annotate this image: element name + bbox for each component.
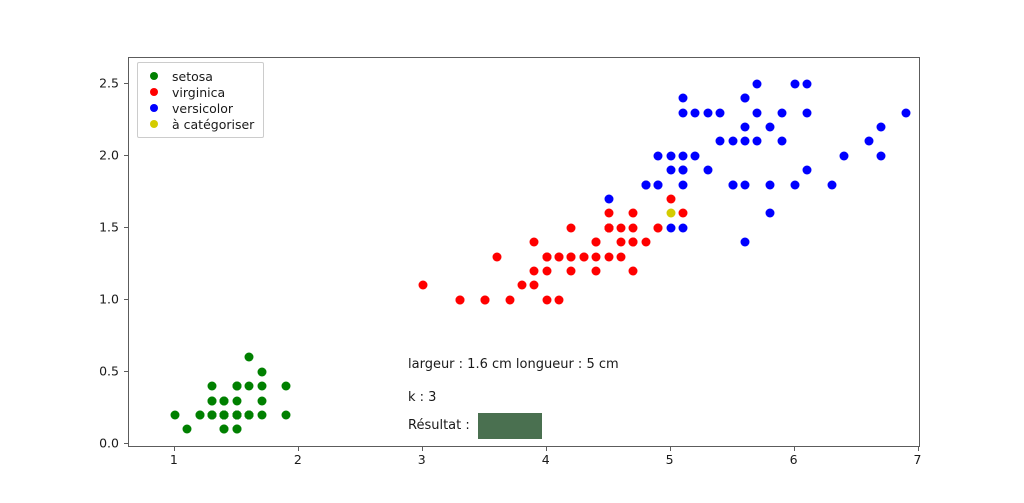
data-point-setosa (183, 425, 192, 434)
data-point-setosa (257, 410, 266, 419)
legend-swatch-icon (150, 120, 158, 128)
data-point-versicolor (741, 238, 750, 247)
data-point-versicolor (741, 94, 750, 103)
data-point-virginica (604, 209, 613, 218)
y-tick-label: 2.0 (99, 147, 119, 162)
y-tick-mark (124, 83, 128, 84)
data-point-versicolor (666, 166, 675, 175)
x-tick-label: 5 (666, 452, 674, 467)
data-point-virginica (555, 295, 564, 304)
y-tick-label: 1.5 (99, 219, 119, 234)
x-tick-label: 7 (914, 452, 922, 467)
y-tick-mark (124, 155, 128, 156)
data-point-versicolor (703, 166, 712, 175)
legend-item-label: versicolor (172, 101, 233, 116)
data-point-virginica (654, 223, 663, 232)
x-tick-mark (794, 447, 795, 451)
legend-item-label: à catégoriser (172, 117, 254, 132)
data-point-setosa (232, 425, 241, 434)
data-point-virginica (542, 266, 551, 275)
data-point-versicolor (679, 108, 688, 117)
data-point-versicolor (716, 108, 725, 117)
data-point-setosa (232, 382, 241, 391)
data-point-virginica (666, 195, 675, 204)
data-point-versicolor (666, 223, 675, 232)
x-tick-mark (918, 447, 919, 451)
data-point-versicolor (765, 209, 774, 218)
data-point-versicolor (679, 151, 688, 160)
data-point-setosa (220, 425, 229, 434)
data-point-virginica (567, 266, 576, 275)
data-point-virginica (629, 266, 638, 275)
scatter-plot-figure: 1234567 0.00.51.01.52.02.5 setosavirgini… (0, 0, 1024, 503)
data-point-versicolor (679, 166, 688, 175)
data-point-setosa (170, 410, 179, 419)
data-point-versicolor (728, 180, 737, 189)
data-point-virginica (617, 238, 626, 247)
data-point-versicolor (691, 151, 700, 160)
data-point-virginica (530, 266, 539, 275)
x-tick-label: 1 (170, 452, 178, 467)
data-point-versicolor (864, 137, 873, 146)
data-point-setosa (232, 396, 241, 405)
legend: setosavirginicaversicolorà catégoriser (137, 62, 264, 138)
data-point-virginica (480, 295, 489, 304)
data-point-virginica (629, 209, 638, 218)
legend-swatch-icon (150, 88, 158, 96)
data-point-versicolor (877, 151, 886, 160)
data-point-versicolor (604, 195, 613, 204)
legend-item-versicolor: versicolor (144, 100, 254, 116)
data-point-versicolor (802, 79, 811, 88)
data-point-setosa (208, 410, 217, 419)
x-tick-label: 3 (418, 452, 426, 467)
data-point-versicolor (666, 151, 675, 160)
data-point-versicolor (741, 137, 750, 146)
data-point-versicolor (765, 123, 774, 132)
k-annotation: k : 3 (408, 390, 436, 405)
data-point-setosa (257, 367, 266, 376)
data-point-virginica (542, 252, 551, 261)
y-tick-label: 0.5 (99, 363, 119, 378)
data-point-virginica (629, 238, 638, 247)
data-point-versicolor (778, 108, 787, 117)
result-label: Résultat : (408, 418, 470, 433)
legend-swatch-icon (150, 72, 158, 80)
y-tick-mark (124, 299, 128, 300)
x-tick-label: 4 (542, 452, 550, 467)
data-point-versicolor (753, 108, 762, 117)
data-point-setosa (245, 353, 254, 362)
data-point-versicolor (741, 123, 750, 132)
data-point-setosa (232, 410, 241, 419)
data-point-versicolor (790, 79, 799, 88)
x-tick-mark (174, 447, 175, 451)
data-point-versicolor (728, 137, 737, 146)
data-point-virginica (455, 295, 464, 304)
y-tick-label: 1.0 (99, 291, 119, 306)
data-point-virginica (604, 223, 613, 232)
data-point-setosa (257, 382, 266, 391)
data-point-virginica (542, 295, 551, 304)
data-point-virginica (517, 281, 526, 290)
data-point-versicolor (654, 151, 663, 160)
data-point-versicolor (902, 108, 911, 117)
data-point-virginica (592, 238, 601, 247)
data-point-virginica (418, 281, 427, 290)
y-tick-mark (124, 443, 128, 444)
data-point-versicolor (679, 94, 688, 103)
data-point-versicolor (753, 79, 762, 88)
measure-annotation: largeur : 1.6 cm longueur : 5 cm (408, 357, 619, 372)
data-point-virginica (629, 223, 638, 232)
data-point-versicolor (790, 180, 799, 189)
data-point-versicolor (741, 180, 750, 189)
data-point-setosa (282, 410, 291, 419)
data-point-virginica (641, 238, 650, 247)
data-point-versicolor (691, 108, 700, 117)
legend-swatch-icon (150, 104, 158, 112)
data-point-virginica (592, 266, 601, 275)
data-point-versicolor (703, 108, 712, 117)
x-tick-mark (422, 447, 423, 451)
data-point-virginica (617, 252, 626, 261)
data-point-versicolor (679, 180, 688, 189)
data-point-versicolor (802, 166, 811, 175)
data-point-virginica (530, 238, 539, 247)
data-point-virginica (679, 209, 688, 218)
data-point-versicolor (802, 108, 811, 117)
data-point-setosa (208, 382, 217, 391)
y-tick-label: 0.0 (99, 435, 119, 450)
data-point-virginica (555, 252, 564, 261)
y-tick-mark (124, 227, 128, 228)
data-point-virginica (567, 223, 576, 232)
data-point-virginica (493, 252, 502, 261)
data-point-à-catégoriser (666, 209, 675, 218)
data-point-setosa (220, 410, 229, 419)
legend-item-setosa: setosa (144, 68, 254, 84)
result-color-swatch (478, 413, 542, 439)
legend-item-label: virginica (172, 85, 225, 100)
data-point-setosa (220, 396, 229, 405)
data-point-versicolor (716, 137, 725, 146)
data-point-versicolor (840, 151, 849, 160)
y-tick-mark (124, 371, 128, 372)
data-point-versicolor (641, 180, 650, 189)
data-point-setosa (282, 382, 291, 391)
data-point-versicolor (753, 137, 762, 146)
data-point-setosa (257, 396, 266, 405)
data-point-setosa (245, 382, 254, 391)
data-point-virginica (530, 281, 539, 290)
data-point-versicolor (765, 180, 774, 189)
legend-item-à-catégoriser: à catégoriser (144, 116, 254, 132)
data-point-versicolor (654, 180, 663, 189)
data-point-setosa (208, 396, 217, 405)
data-point-versicolor (877, 123, 886, 132)
data-point-versicolor (778, 137, 787, 146)
legend-item-virginica: virginica (144, 84, 254, 100)
data-point-virginica (567, 252, 576, 261)
x-tick-label: 2 (294, 452, 302, 467)
data-point-versicolor (827, 180, 836, 189)
data-point-setosa (245, 410, 254, 419)
data-point-virginica (604, 252, 613, 261)
legend-item-label: setosa (172, 69, 213, 84)
x-tick-mark (670, 447, 671, 451)
data-point-virginica (579, 252, 588, 261)
x-tick-mark (298, 447, 299, 451)
data-point-versicolor (679, 223, 688, 232)
data-point-virginica (505, 295, 514, 304)
data-point-setosa (195, 410, 204, 419)
x-tick-mark (546, 447, 547, 451)
x-tick-label: 6 (790, 452, 798, 467)
y-tick-label: 2.5 (99, 75, 119, 90)
data-point-virginica (617, 223, 626, 232)
data-point-virginica (592, 252, 601, 261)
